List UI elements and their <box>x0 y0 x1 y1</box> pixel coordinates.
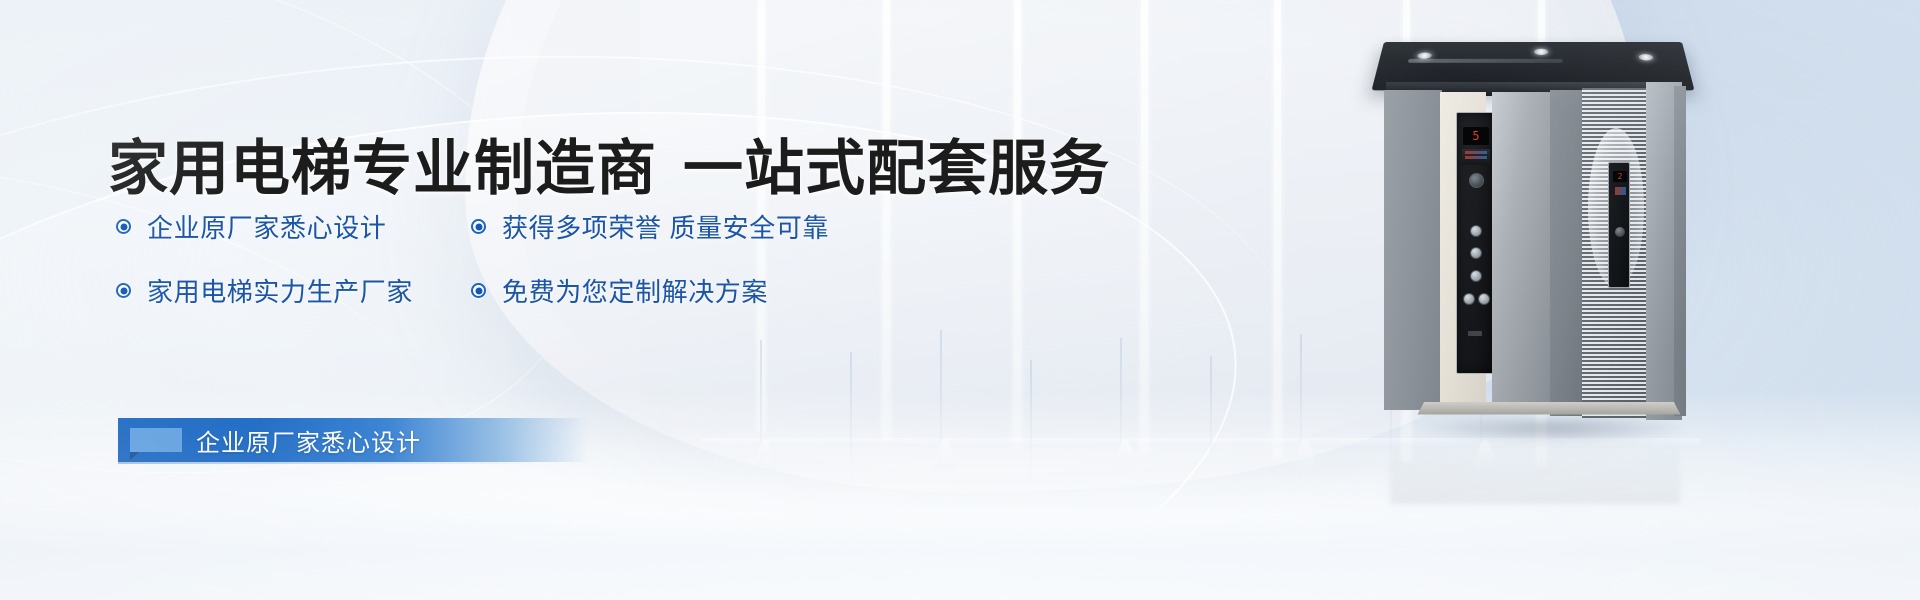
panel-brand-badge <box>1462 149 1490 165</box>
promo-banner: 5 2 家用电梯专业制造商一站式配套服务 <box>0 0 1920 600</box>
feature-item-2: 获得多项荣誉 质量安全可靠 <box>471 208 829 245</box>
headline-part-1: 家用电梯专业制造商 <box>108 135 657 202</box>
ribbon-underline <box>118 462 538 464</box>
door-close-button[interactable] <box>1478 293 1490 305</box>
elevator-base-shadow <box>1414 418 1692 444</box>
elevator-wall-steel <box>1492 92 1552 412</box>
bullet-dot-icon <box>116 283 131 298</box>
panel-speaker-icon <box>1469 173 1484 188</box>
feature-label: 企业原厂家悉心设计 <box>147 208 386 245</box>
floor-display-value: 5 <box>1472 130 1479 142</box>
panel-key-slot <box>1468 331 1482 336</box>
ribbon-tag-label: 企业原厂家悉心设计 <box>196 423 421 458</box>
feature-label: 获得多项荣誉 质量安全可靠 <box>502 208 829 245</box>
banner-text-content: 家用电梯专业制造商一站式配套服务 企业原厂家悉心设计 获得多项荣誉 质量安全可靠… <box>108 0 1108 600</box>
feature-item-4: 免费为您定制解决方案 <box>471 272 768 309</box>
elevator-ribbed-glass-wall: 2 <box>1582 88 1648 418</box>
elevator-wall-steel-secondary <box>1550 90 1584 416</box>
banner-headline: 家用电梯专业制造商一站式配套服务 <box>108 120 1110 207</box>
feature-label: 免费为您定制解决方案 <box>502 272 768 309</box>
feature-label: 家用电梯实力生产厂家 <box>147 272 413 309</box>
elevator-floor-base <box>1417 402 1680 415</box>
door-open-button[interactable] <box>1463 293 1475 305</box>
feature-row: 家用电梯实力生产厂家 免费为您定制解决方案 <box>116 272 956 309</box>
elevator-control-panel: 5 <box>1456 112 1494 374</box>
floor-display: 5 <box>1463 127 1489 145</box>
floor-button-2[interactable] <box>1470 247 1482 259</box>
elevator-side-panel-left <box>1384 90 1442 410</box>
bullet-dot-icon <box>471 219 486 234</box>
inner-floor-display-value: 2 <box>1618 172 1623 181</box>
feature-item-3: 家用电梯实力生产厂家 <box>116 272 471 309</box>
elevator-frame-post-right-edge <box>1674 86 1686 416</box>
floor-button-1[interactable] <box>1470 225 1482 237</box>
banner-feature-list: 企业原厂家悉心设计 获得多项荣誉 质量安全可靠 家用电梯实力生产厂家 免费为您定… <box>116 208 956 336</box>
ribbon-flag-icon <box>130 428 182 452</box>
bullet-dot-icon <box>116 219 131 234</box>
home-elevator-image: 5 2 <box>1378 42 1688 424</box>
feature-row: 企业原厂家悉心设计 获得多项荣誉 质量安全可靠 <box>116 208 956 245</box>
headline-part-2: 一站式配套服务 <box>683 135 1110 202</box>
highlight-ribbon-tag[interactable]: 企业原厂家悉心设计 <box>118 418 588 462</box>
feature-item-1: 企业原厂家悉心设计 <box>116 208 471 245</box>
bullet-dot-icon <box>471 283 486 298</box>
floor-button-3[interactable] <box>1470 270 1482 282</box>
elevator-inner-control-panel: 2 <box>1608 162 1630 288</box>
